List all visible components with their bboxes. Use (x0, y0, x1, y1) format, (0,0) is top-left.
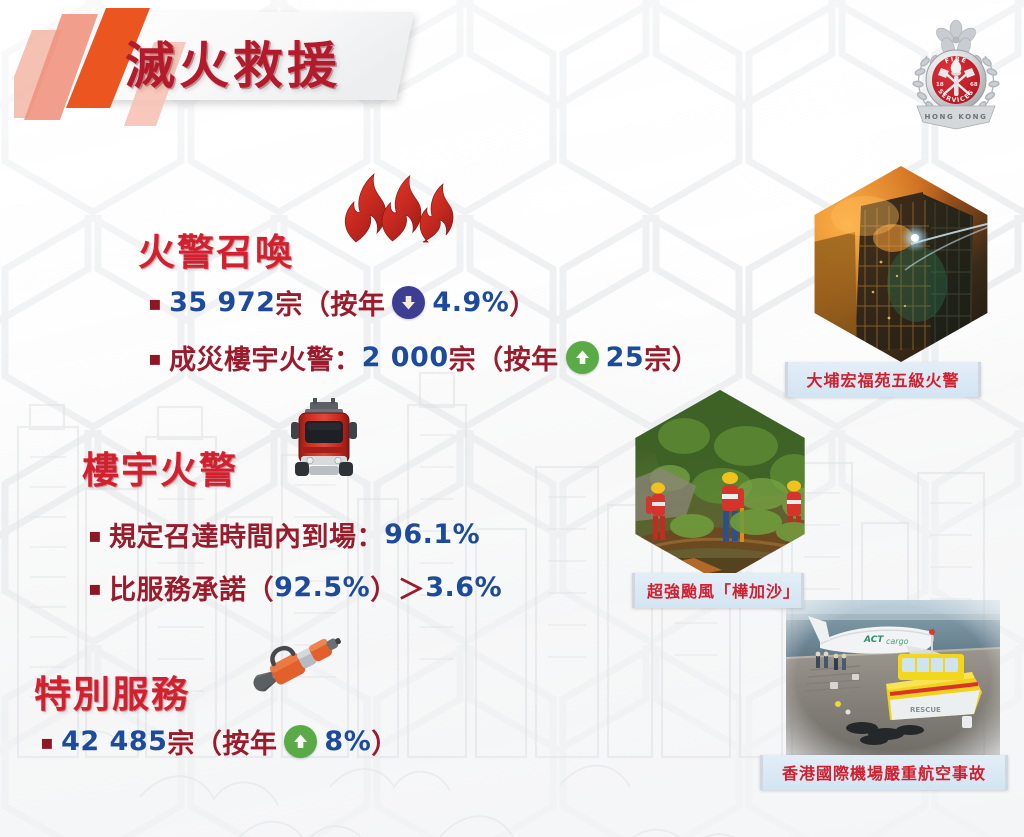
value-response-time: 96.1% (384, 519, 480, 550)
value-special-services-change: 8% (324, 726, 371, 757)
value-special-services-count: 42 485 (61, 726, 167, 757)
bullet-service-pledge: ▪ 比服務承諾（ 92.5% ）＞ 3.6% (88, 568, 502, 607)
value-fire-calls-count: 35 972 (169, 287, 275, 318)
svg-text:RESCUE: RESCUE (910, 706, 941, 714)
arrow-down-badge-icon (392, 286, 425, 319)
bullet-dot: ▪ (88, 578, 102, 598)
flames-icon (334, 168, 459, 243)
photo-soft-mask: ACT cargo (786, 600, 1000, 756)
page-header: 滅火救援 (0, 0, 1024, 145)
photo-tai-po-fire (805, 166, 997, 362)
bullet-special-services-total: ▪ 42 485 宗（按年 8% ） (40, 722, 399, 761)
bullet-damaging-building-fires: ▪ 成災樓宇火警： 2 000 宗（按年 25 宗） (148, 338, 699, 377)
value-pledge-gap: 3.6% (425, 572, 502, 603)
photo-typhoon-ragasa (626, 390, 814, 582)
section-heading: 樓宇火警 (82, 440, 238, 494)
bullet-dot: ▪ (148, 348, 162, 368)
value-fire-calls-change: 4.9% (432, 287, 509, 318)
page-title: 滅火救援 (125, 26, 341, 98)
photo-airport-accident: ACT cargo (786, 600, 1000, 756)
value-damaging-fires-change: 25 (606, 342, 645, 373)
section-fire-calls: 火警召喚 (138, 222, 294, 276)
section-building-fires: 樓宇火警 (82, 440, 238, 494)
value-service-pledge: 92.5% (274, 572, 370, 603)
section-heading: 火警召喚 (138, 222, 294, 276)
label-greater-than: ）＞ (370, 568, 425, 607)
label-yoy: 宗（按年 (275, 283, 385, 322)
section-heading: 特別服務 (34, 664, 190, 718)
svg-text:HONG KONG: HONG KONG (925, 113, 988, 121)
value-damaging-fires-count: 2 000 (362, 342, 449, 373)
svg-text:cargo: cargo (886, 637, 909, 646)
cargo-plane-in-water-rescue-boat-photo: ACT cargo (786, 600, 1000, 756)
close-paren: 宗） (644, 338, 699, 377)
photo-hex-mask (626, 390, 814, 582)
caption-typhoon-ragasa: 超強颱風「樺加沙」 (632, 573, 804, 608)
arrow-up-badge-icon (284, 725, 317, 758)
night-building-fire-photo (805, 166, 997, 362)
fire-engine-icon (283, 396, 365, 484)
arrow-up-badge-icon (566, 341, 599, 374)
hydraulic-cutter-icon (246, 627, 348, 699)
svg-text:68: 68 (970, 82, 978, 88)
close-paren: ） (371, 722, 399, 761)
caption-airport-accident: 香港國際機場嚴重航空事故 (760, 755, 1008, 790)
section-special-services: 特別服務 (34, 664, 190, 718)
photo-hex-mask (805, 166, 997, 362)
firefighters-clearing-fallen-trees-photo (626, 390, 814, 582)
label-yoy: 宗（按年 (449, 338, 559, 377)
bullet-dot: ▪ (88, 525, 102, 545)
bullet-fire-calls-total: ▪ 35 972 宗（按年 4.9% ） (148, 283, 537, 322)
label-response-time: 規定召達時間內到場： (109, 515, 384, 554)
caption-tai-po-fire: 大埔宏福苑五級火警 (785, 362, 981, 397)
close-paren: ） (509, 283, 537, 322)
svg-text:ACT: ACT (863, 635, 884, 645)
label-service-pledge: 比服務承諾（ (109, 568, 274, 607)
bullet-response-time: ▪ 規定召達時間內到場： 96.1% (88, 515, 480, 554)
label-damaging-fires: 成災樓宇火警： (169, 338, 362, 377)
bullet-dot: ▪ (148, 293, 162, 313)
hk-fire-services-crest-icon: FIRE SERVICES 18 68 HONG KONG (903, 18, 1009, 130)
label-yoy: 宗（按年 (167, 722, 277, 761)
bullet-dot: ▪ (40, 732, 54, 752)
svg-text:18: 18 (936, 82, 944, 88)
